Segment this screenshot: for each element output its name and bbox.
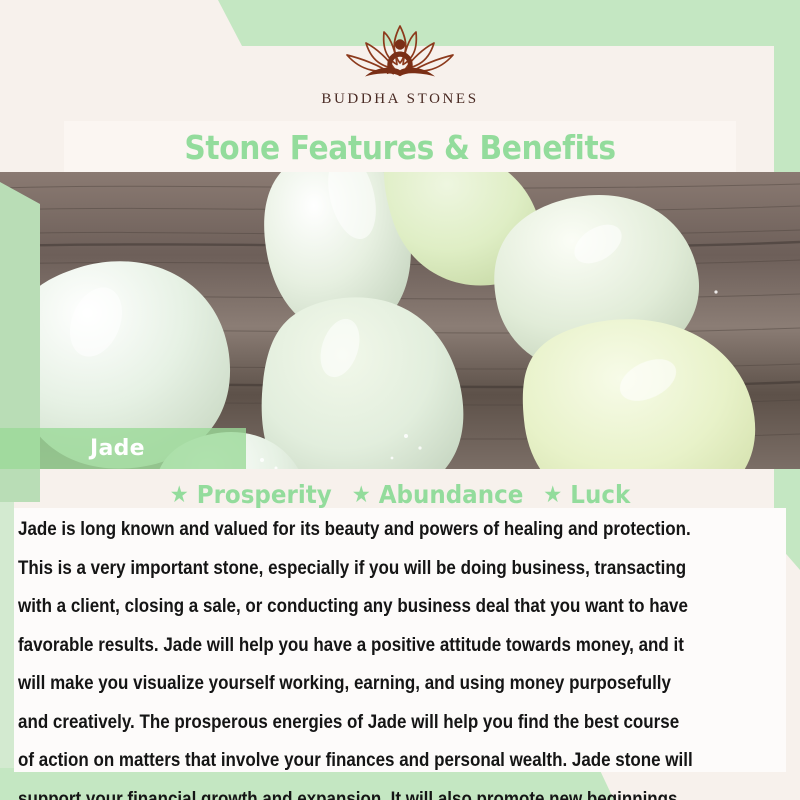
page-title: Stone Features & Benefits — [40, 124, 760, 172]
stone-name-tag: Jade — [0, 428, 246, 469]
benefit-item-luck: Luck — [570, 480, 630, 509]
stone-photo — [0, 172, 800, 469]
left-green-rail — [0, 500, 14, 768]
stone-name-label: Jade — [90, 436, 145, 461]
lotus-meditation-icon — [325, 22, 475, 88]
benefit-item-prosperity: Prosperity — [197, 480, 332, 509]
product-infographic: BUDDHA STONES Stone Features & Benefits — [0, 0, 800, 800]
star-icon: ★ — [170, 482, 189, 508]
benefits-list: ★ Prosperity ★ Abundance ★ Luck — [32, 479, 768, 511]
star-icon: ★ — [352, 482, 371, 508]
benefit-item-abundance: Abundance — [379, 480, 524, 509]
star-icon: ★ — [543, 482, 562, 508]
brand-logo: BUDDHA STONES — [0, 22, 800, 118]
brand-name: BUDDHA STONES — [321, 91, 478, 108]
description-text: Jade is long known and valued for its be… — [18, 511, 698, 800]
